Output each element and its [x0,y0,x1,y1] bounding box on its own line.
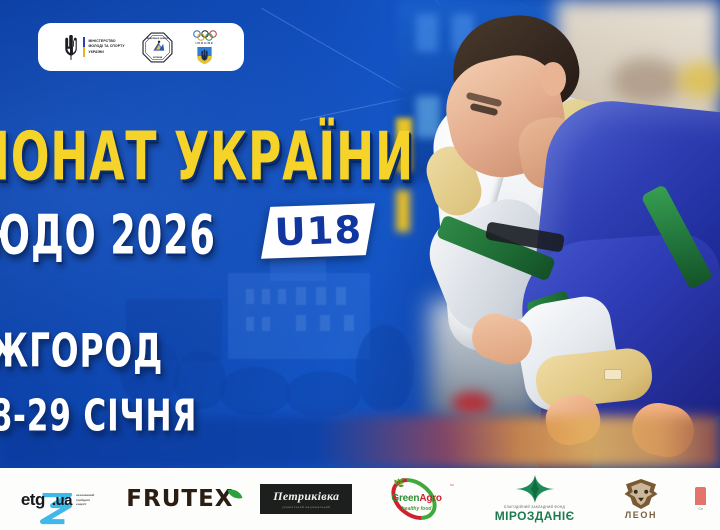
sponsor-logo-etg-ua[interactable]: etg .ua незалежний трейдинг енергії [0,468,115,530]
greenagro-word-agro: Agro [419,493,442,504]
etg-domain: .ua [52,493,72,508]
athlete-gi-label-patch [604,369,622,380]
greenagro-wordmark: GreenAgro [371,493,463,504]
ministry-name: МІНІСТЕРСТВОМОЛОДІ ТА СПОРТУУКРАЇНИ [88,39,124,55]
judo-championship-poster: МІНІСТЕРСТВОМОЛОДІ ТА СПОРТУУКРАЇНИ ФЕДЕ… [0,0,720,530]
judo-federation-logo: ФЕДЕРАЦІЯ ДЗЮДО УКРАЇНИ [142,32,173,63]
greenagro-word-green: Green [391,493,419,504]
leon-wordmark: ЛЕОН [625,510,657,520]
venue-background-blur [678,62,720,98]
lion-head-icon [623,479,659,509]
ministry-line-2: МОЛОДІ ТА СПОРТУ [88,44,124,48]
petrykivka-slogan: український національний [282,505,330,509]
etg-wordmark: etg [21,491,45,508]
ukraine-shield-icon [196,46,213,65]
institutional-logo-bar: МІНІСТЕРСТВОМОЛОДІ ТА СПОРТУУКРАЇНИ ФЕДЕ… [38,23,244,71]
age-category-badge: U18 [261,203,375,259]
petrykivka-wordmark: Петриківка [273,489,339,504]
ministry-logo: МІНІСТЕРСТВОМОЛОДІ ТА СПОРТУУКРАЇНИ [63,35,124,60]
mirozdaniye-wordmark: МІРОЗДАНІЄ [495,509,575,523]
sponsor-logo-petrykivka[interactable]: Петриківка український національний [252,468,361,530]
venue-background-blur [612,58,682,104]
page-title: ПІОНАТ УКРАЇНИ [0,118,414,196]
partial-logo-mark [695,487,706,505]
athlete-head-ear [540,62,566,96]
mirozdaniye-diamond-icon [515,475,555,503]
ministry-line-3: УКРАЇНИ [88,50,103,54]
olympic-committee-label: UKRAINE [195,41,213,45]
etg-tagline: незалежний трейдинг енергії [76,493,94,506]
olympic-committee-logo: UKRAINE [191,30,219,65]
greenagro-slogan: healthy food [371,506,463,512]
frutex-wordmark: FRUTEX [126,486,233,512]
sponsor-logo-leon[interactable]: ЛЕОН [601,468,681,530]
sponsor-bar: etg .ua незалежний трейдинг енергії FRUT… [0,468,720,530]
olympic-rings-icon [192,30,218,41]
ministry-line-1: МІНІСТЕРСТВО [88,39,115,43]
partial-logo-caption: Сп [698,507,702,511]
venue-background-blur [452,392,492,414]
sponsor-logo-greenagro[interactable]: 🌿 ™ GreenAgro healthy food [361,468,468,530]
discipline-and-year: ЗЮДО 2026 [0,203,216,267]
sponsor-logo-mirozdaniye[interactable]: БЛАГОДІЙНИЙ ЗАКЛАДНИЙ ФОНД МІРОЗДАНІЄ [468,468,601,530]
svg-text:ФЕДЕРАЦІЯ ДЗЮДО: ФЕДЕРАЦІЯ ДЗЮДО [147,38,169,40]
sprout-icon: 🌿 [394,478,405,489]
sponsor-logo-partial[interactable]: Сп [681,468,720,530]
age-category-label: U18 [274,208,363,255]
sponsor-logo-frutex[interactable]: FRUTEX [115,468,252,530]
ministry-accent-bar [83,37,85,57]
greenagro-trademark: ™ [450,483,454,488]
tryzub-icon [63,35,80,60]
event-dates: 28-29 СІЧНЯ [0,390,197,441]
event-city: УЖГОРОД [0,325,163,378]
